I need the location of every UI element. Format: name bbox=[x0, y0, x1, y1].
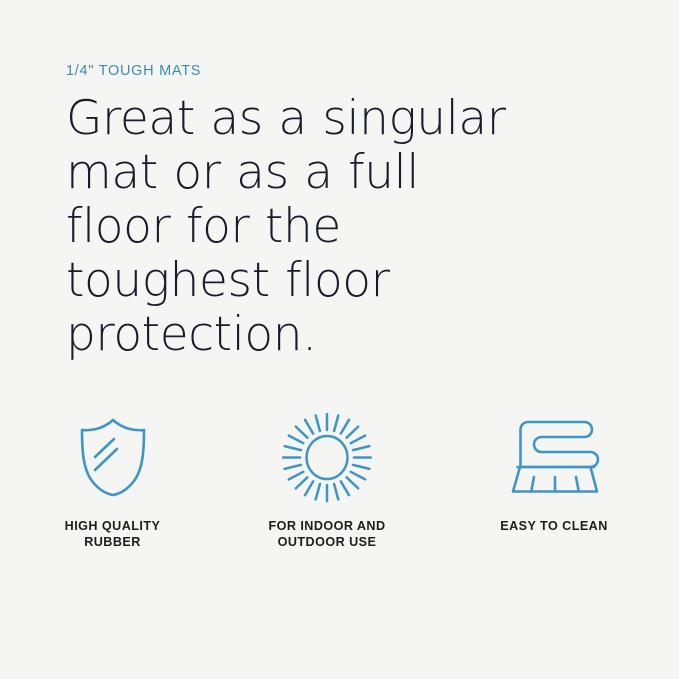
product-feature-panel: 1/4" TOUGH MATS Great as a singular mat … bbox=[0, 0, 679, 679]
feature-item-high-quality-rubber: HIGH QUALITY RUBBER bbox=[0, 404, 225, 550]
feature-list: HIGH QUALITY RUBBER bbox=[0, 404, 679, 550]
page-title: Great as a singular mat or as a full flo… bbox=[66, 92, 536, 362]
copy-block: 1/4" TOUGH MATS Great as a singular mat … bbox=[66, 64, 586, 362]
feature-label: HIGH QUALITY RUBBER bbox=[65, 518, 161, 550]
feature-item-indoor-outdoor: FOR INDOOR AND OUTDOOR USE bbox=[225, 404, 429, 550]
feature-label: FOR INDOOR AND OUTDOOR USE bbox=[268, 518, 385, 550]
feature-item-easy-to-clean: EASY TO CLEAN bbox=[429, 404, 679, 534]
feature-label: EASY TO CLEAN bbox=[500, 518, 608, 534]
sun-icon bbox=[281, 404, 373, 510]
eyebrow-label: 1/4" TOUGH MATS bbox=[66, 64, 586, 80]
scrub-brush-icon bbox=[508, 404, 600, 510]
shield-icon bbox=[77, 404, 149, 510]
